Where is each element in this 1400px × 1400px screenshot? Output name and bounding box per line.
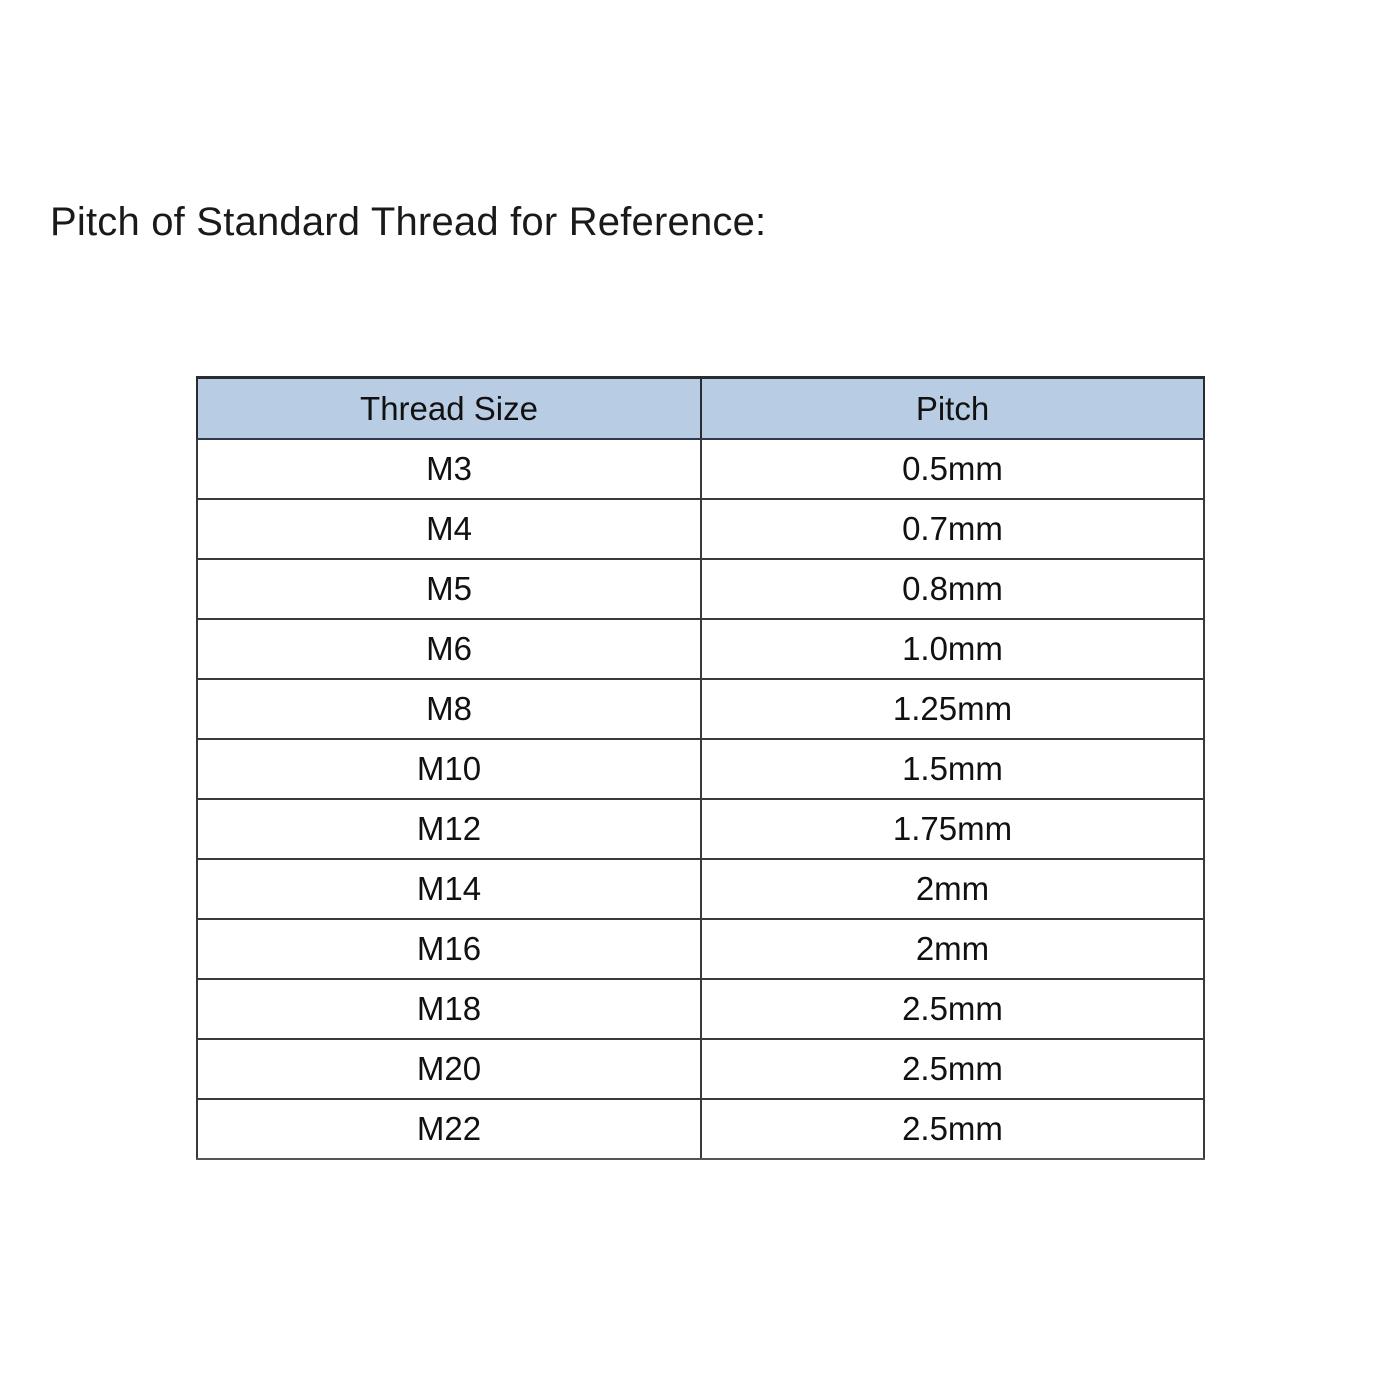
cell-pitch: 2mm (701, 919, 1204, 979)
table-row: M81.25mm (197, 679, 1204, 739)
table-row: M222.5mm (197, 1099, 1204, 1159)
table-row: M182.5mm (197, 979, 1204, 1039)
page-title: Pitch of Standard Thread for Reference: (50, 198, 766, 246)
cell-pitch: 2mm (701, 859, 1204, 919)
cell-thread-size: M12 (197, 799, 701, 859)
table-row: M50.8mm (197, 559, 1204, 619)
table-header: Thread Size Pitch (197, 378, 1204, 440)
table-row: M61.0mm (197, 619, 1204, 679)
cell-pitch: 2.5mm (701, 979, 1204, 1039)
thread-pitch-table-container: Thread Size Pitch M30.5mmM40.7mmM50.8mmM… (196, 376, 1203, 1160)
cell-pitch: 2.5mm (701, 1099, 1204, 1159)
cell-pitch: 0.7mm (701, 499, 1204, 559)
table-row: M142mm (197, 859, 1204, 919)
table-row: M30.5mm (197, 439, 1204, 499)
cell-pitch: 2.5mm (701, 1039, 1204, 1099)
column-header-pitch: Pitch (701, 378, 1204, 440)
cell-pitch: 1.25mm (701, 679, 1204, 739)
cell-thread-size: M5 (197, 559, 701, 619)
table-body: M30.5mmM40.7mmM50.8mmM61.0mmM81.25mmM101… (197, 439, 1204, 1159)
cell-thread-size: M20 (197, 1039, 701, 1099)
cell-thread-size: M18 (197, 979, 701, 1039)
table-row: M162mm (197, 919, 1204, 979)
table-row: M40.7mm (197, 499, 1204, 559)
cell-pitch: 1.0mm (701, 619, 1204, 679)
column-header-thread-size: Thread Size (197, 378, 701, 440)
table-row: M202.5mm (197, 1039, 1204, 1099)
cell-thread-size: M3 (197, 439, 701, 499)
table-row: M101.5mm (197, 739, 1204, 799)
cell-thread-size: M14 (197, 859, 701, 919)
cell-thread-size: M22 (197, 1099, 701, 1159)
thread-pitch-table: Thread Size Pitch M30.5mmM40.7mmM50.8mmM… (196, 376, 1205, 1160)
cell-pitch: 0.8mm (701, 559, 1204, 619)
cell-thread-size: M6 (197, 619, 701, 679)
cell-thread-size: M16 (197, 919, 701, 979)
cell-thread-size: M4 (197, 499, 701, 559)
table-header-row: Thread Size Pitch (197, 378, 1204, 440)
cell-thread-size: M8 (197, 679, 701, 739)
cell-pitch: 1.75mm (701, 799, 1204, 859)
cell-pitch: 0.5mm (701, 439, 1204, 499)
cell-pitch: 1.5mm (701, 739, 1204, 799)
cell-thread-size: M10 (197, 739, 701, 799)
table-row: M121.75mm (197, 799, 1204, 859)
